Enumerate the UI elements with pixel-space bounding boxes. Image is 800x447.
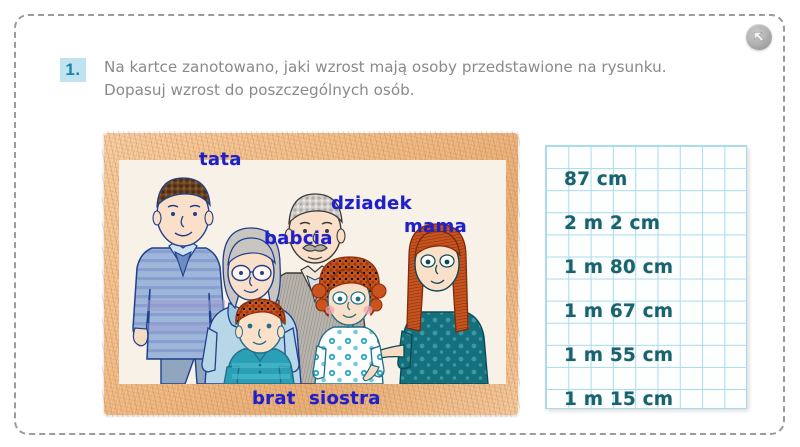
measurement-item[interactable]: 1 m 55 cm (564, 345, 673, 366)
name-label-siostra: siostra (309, 388, 381, 409)
name-label-babcia: babcia (264, 228, 333, 249)
measurement-item[interactable]: 1 m 15 cm (564, 389, 673, 410)
measurement-text: 1 m 15 cm (564, 389, 673, 410)
exercise-panel: 1. Na kartce zanotowano, jaki wzrost maj… (14, 14, 785, 435)
task-prompt-line-1: Na kartce zanotowano, jaki wzrost mają o… (104, 56, 752, 79)
measurement-text: 87 cm (564, 169, 627, 190)
name-label-dziadek: dziadek (331, 193, 412, 214)
task-prompt-line-2: Dopasuj wzrost do poszczególnych osób. (104, 79, 764, 102)
task-prompt: Na kartce zanotowano, jaki wzrost mają o… (104, 56, 764, 102)
back-button[interactable] (746, 24, 772, 50)
task-number-badge: 1. (60, 58, 86, 82)
measurement-text: 2 m 2 cm (564, 213, 660, 234)
measurement-text: 1 m 67 cm (564, 301, 673, 322)
illustration-canvas: babcia dziadek mama (119, 160, 506, 384)
measurement-text: 1 m 55 cm (564, 345, 673, 366)
measurement-item[interactable]: 2 m 2 cm (564, 213, 660, 234)
name-label-brat: brat (252, 388, 296, 409)
grid-paper-note: 87 cm 2 m 2 cm 1 m 80 cm 1 m 67 cm 1 m 5… (545, 145, 747, 409)
measurement-text: 1 m 80 cm (564, 257, 673, 278)
measurement-item[interactable]: 1 m 80 cm (564, 257, 673, 278)
family-illustration[interactable]: babcia dziadek mama tata brat siostra (104, 133, 518, 415)
name-label-mama: mama (404, 216, 467, 237)
family-drawing (119, 160, 506, 384)
measurement-item[interactable]: 87 cm (564, 169, 627, 190)
measurement-item[interactable]: 1 m 67 cm (564, 301, 673, 322)
name-label-tata: tata (199, 149, 242, 170)
